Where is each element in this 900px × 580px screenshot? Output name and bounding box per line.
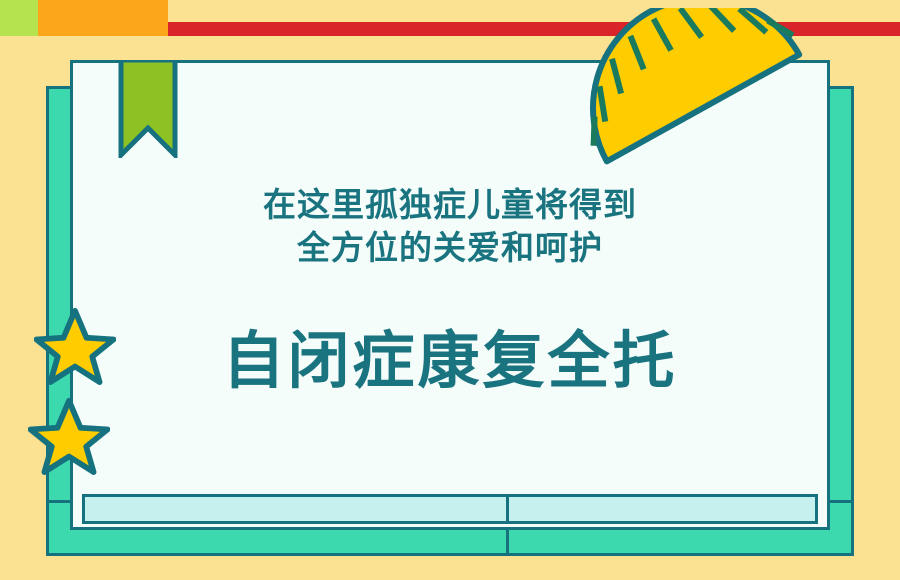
bookmark-ribbon-icon: [118, 60, 178, 158]
panel-strip-divider: [506, 494, 509, 524]
subtitle-line-2: 全方位的关爱和呵护: [70, 226, 830, 269]
subtitle-line-1: 在这里孤独症儿童将得到: [70, 183, 830, 226]
star-icon: [28, 396, 110, 476]
subtitle-block: 在这里孤独症儿童将得到 全方位的关爱和呵护: [70, 183, 830, 269]
panel-inner-strip: [82, 494, 818, 524]
poster-canvas: 在这里孤独症儿童将得到 全方位的关爱和呵护 自闭症康复全托: [0, 0, 900, 580]
protractor-fan-icon: [588, 8, 818, 208]
orange-block-shape: [38, 0, 168, 36]
headline-title: 自闭症康复全托: [70, 323, 830, 401]
